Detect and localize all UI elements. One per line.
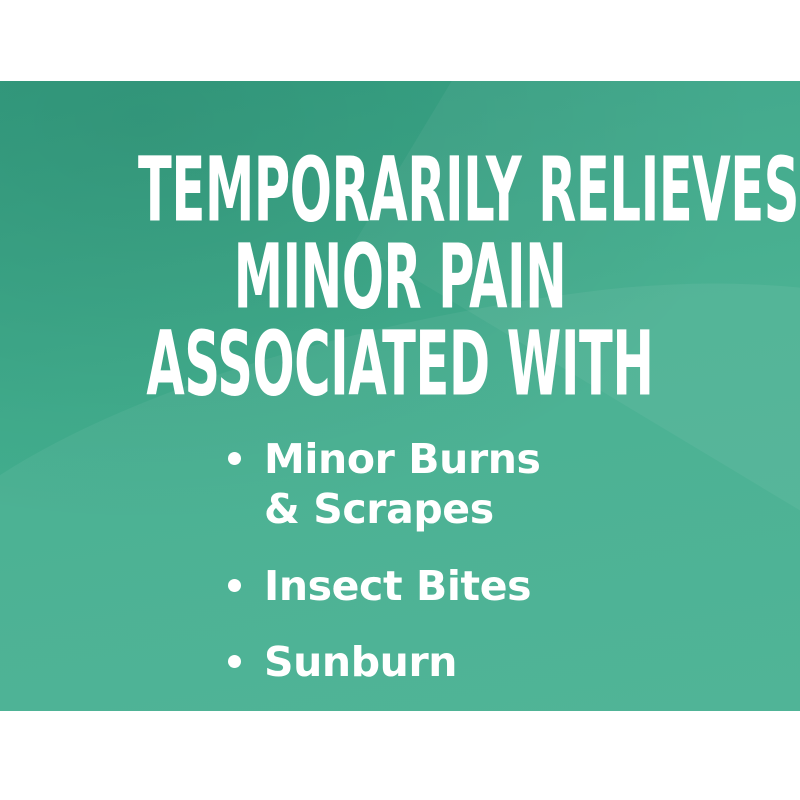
content-layer: TEMPORARILY RELIEVES MINOR PAIN ASSOCIAT…: [0, 0, 800, 800]
list-item: Sunburn: [228, 637, 788, 687]
bullet-dot-icon: [228, 579, 241, 592]
headline-line-2: MINOR PAIN: [138, 232, 662, 321]
headline-line-3: ASSOCIATED WITH: [138, 319, 662, 408]
benefit-bullet-list: Minor Burns & Scrapes Insect Bites Sunbu…: [228, 434, 788, 688]
promo-graphic-canvas: TEMPORARILY RELIEVES MINOR PAIN ASSOCIAT…: [0, 0, 800, 800]
bullet-dot-icon: [228, 452, 241, 465]
headline-line-1: TEMPORARILY RELIEVES: [138, 145, 662, 234]
letterbox-band-bottom: [0, 711, 800, 800]
list-item-label: Insect Bites: [264, 561, 531, 611]
list-item: Minor Burns & Scrapes: [228, 434, 788, 535]
list-item-label: Sunburn: [264, 637, 457, 687]
list-item: Insect Bites: [228, 561, 788, 611]
letterbox-band-top: [0, 0, 800, 81]
bullet-dot-icon: [228, 655, 241, 668]
list-item-label: Minor Burns & Scrapes: [264, 434, 541, 535]
